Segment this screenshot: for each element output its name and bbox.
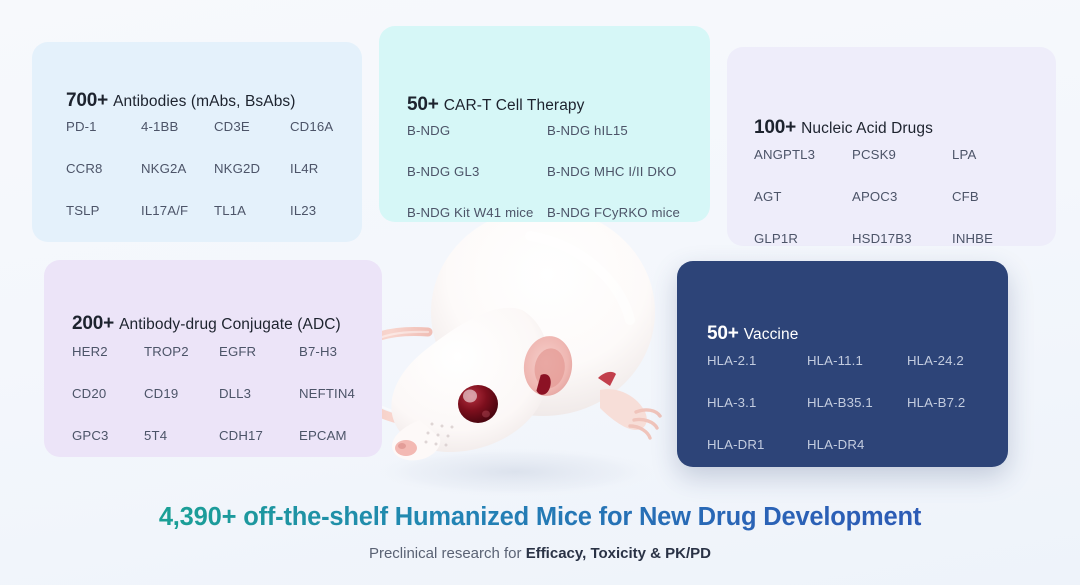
list-item: TL1A — [214, 204, 290, 217]
subheadline-bold: Efficacy, Toxicity & PK/PD — [526, 545, 711, 562]
list-item: IL23 — [290, 204, 344, 217]
list-item: HLA-24.2 — [907, 354, 990, 367]
list-item: IL17A/F — [141, 204, 214, 217]
list-item: HLA-DR4 — [807, 438, 907, 451]
card-nucleic-title: 100+ Nucleic Acid Drugs — [754, 117, 933, 139]
card-vaccine-count: 50+ — [707, 323, 744, 344]
card-car-t-cell-therapy: 50+ CAR-T Cell Therapy B-NDG B-NDG hIL15… — [379, 26, 710, 222]
card-nucleic-label: Nucleic Acid Drugs — [801, 120, 933, 137]
list-item: HLA-3.1 — [707, 396, 807, 409]
card-car-t-count: 50+ — [407, 94, 444, 115]
card-antibodies: 700+ Antibodies (mAbs, BsAbs) PD-1 4-1BB… — [32, 42, 362, 242]
list-item: GLP1R — [754, 232, 852, 245]
list-item: NEFTIN4 — [299, 387, 364, 400]
list-item: APOC3 — [852, 190, 952, 203]
list-item: B-NDG Kit W41 mice — [407, 206, 547, 219]
card-nucleic-items: ANGPTL3 PCSK9 LPA AGT APOC3 CFB GLP1R HS… — [754, 148, 1038, 246]
card-car-t-title: 50+ CAR-T Cell Therapy — [407, 94, 585, 116]
card-vaccine-title: 50+ Vaccine — [707, 323, 798, 345]
infographic-stage: 700+ Antibodies (mAbs, BsAbs) PD-1 4-1BB… — [0, 0, 1080, 585]
list-item: CFB — [952, 190, 1038, 203]
list-item: ANGPTL3 — [754, 148, 852, 161]
card-antibodies-title: 700+ Antibodies (mAbs, BsAbs) — [66, 90, 296, 112]
list-item: HSD17B3 — [852, 232, 952, 245]
page-subheadline: Preclinical research for Efficacy, Toxic… — [0, 545, 1080, 562]
card-nucleic-acid-drugs: 100+ Nucleic Acid Drugs ANGPTL3 PCSK9 LP… — [727, 47, 1056, 246]
card-car-t-items: B-NDG B-NDG hIL15 B-NDG GL3 B-NDG MHC I/… — [407, 124, 692, 220]
list-item: PD-1 — [66, 120, 141, 133]
list-item: CD16A — [290, 120, 344, 133]
card-adc-title: 200+ Antibody-drug Conjugate (ADC) — [72, 313, 341, 335]
list-item: GPC3 — [72, 429, 144, 442]
card-car-t-label: CAR-T Cell Therapy — [444, 97, 585, 114]
list-item: CD20 — [72, 387, 144, 400]
list-item: CCR8 — [66, 162, 141, 175]
card-antibody-drug-conjugate: 200+ Antibody-drug Conjugate (ADC) HER2 … — [44, 260, 382, 457]
list-item: CD19 — [144, 387, 219, 400]
list-item: B7-H3 — [299, 345, 364, 358]
list-item: CD3E — [214, 120, 290, 133]
list-item: EPCAM — [299, 429, 364, 442]
list-item: B-NDG hIL15 — [547, 124, 692, 137]
list-item: HLA-2.1 — [707, 354, 807, 367]
list-item: IL4R — [290, 162, 344, 175]
list-item: NKG2A — [141, 162, 214, 175]
list-item: 4-1BB — [141, 120, 214, 133]
list-item: NKG2D — [214, 162, 290, 175]
list-item: B-NDG FCyRKO mice — [547, 206, 692, 219]
list-item: HLA-11.1 — [807, 354, 907, 367]
card-antibodies-label: Antibodies (mAbs, BsAbs) — [113, 93, 295, 110]
card-antibodies-items: PD-1 4-1BB CD3E CD16A CCR8 NKG2A NKG2D I… — [66, 120, 344, 218]
list-item: HER2 — [72, 345, 144, 358]
list-item: INHBE — [952, 232, 1038, 245]
list-item: B-NDG MHC I/II DKO — [547, 165, 692, 178]
list-item: PCSK9 — [852, 148, 952, 161]
list-item: HLA-B35.1 — [807, 396, 907, 409]
list-item: 5T4 — [144, 429, 219, 442]
list-item: LPA — [952, 148, 1038, 161]
list-item: B-NDG GL3 — [407, 165, 547, 178]
subheadline-regular: Preclinical research for — [369, 545, 526, 562]
card-vaccine-label: Vaccine — [744, 326, 799, 343]
card-adc-count: 200+ — [72, 313, 119, 334]
list-item: TSLP — [66, 204, 141, 217]
card-vaccine-items: HLA-2.1 HLA-11.1 HLA-24.2 HLA-3.1 HLA-B3… — [707, 354, 990, 452]
list-item: DLL3 — [219, 387, 299, 400]
list-item: HLA-B7.2 — [907, 396, 990, 409]
card-adc-items: HER2 TROP2 EGFR B7-H3 CD20 CD19 DLL3 NEF… — [72, 345, 364, 443]
card-vaccine: 50+ Vaccine HLA-2.1 HLA-11.1 HLA-24.2 HL… — [677, 261, 1008, 467]
page-headline: 4,390+ off-the-shelf Humanized Mice for … — [0, 503, 1080, 532]
card-nucleic-count: 100+ — [754, 117, 801, 138]
list-item: CDH17 — [219, 429, 299, 442]
list-item: B-NDG — [407, 124, 547, 137]
list-item: TROP2 — [144, 345, 219, 358]
card-adc-label: Antibody-drug Conjugate (ADC) — [119, 316, 341, 333]
list-item: EGFR — [219, 345, 299, 358]
card-antibodies-count: 700+ — [66, 90, 113, 111]
list-item: AGT — [754, 190, 852, 203]
list-item: HLA-DR1 — [707, 438, 807, 451]
